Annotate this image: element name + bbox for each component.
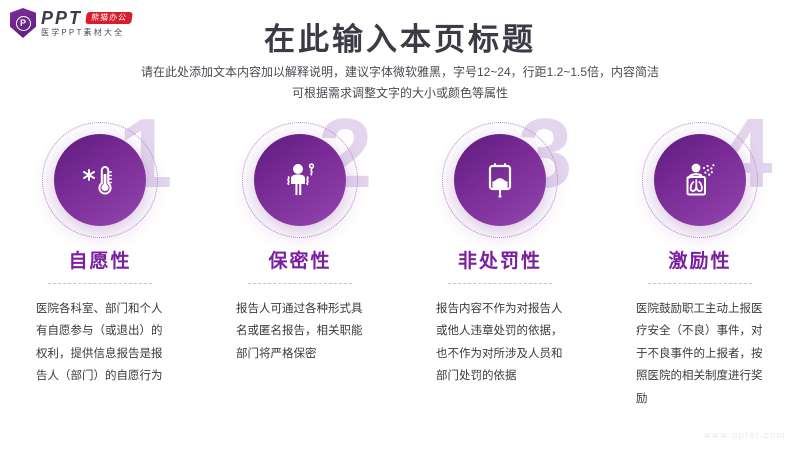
feature-heading-4: 激励性 [600, 246, 800, 273]
feature-heading-3: 非处罚性 [400, 246, 600, 273]
thermometer-snowflake-icon [54, 134, 146, 226]
feature-columns: 1 [0, 112, 800, 432]
feature-column-2: 2 [200, 112, 400, 432]
icon-badge-4: 4 [600, 112, 800, 242]
feature-body-2: 报告人可通过各种形式具名或匿名报告，相关职能部门将严格保密 [236, 298, 364, 365]
icon-badge-1: 1 [0, 112, 200, 242]
subtitle-line-1: 请在此处添加文本内容加以解释说明，建议字体微软雅黑，字号12~24，行距1.2~… [0, 62, 800, 83]
icon-badge-2: 2 [200, 112, 400, 242]
heading-divider-1 [48, 283, 152, 284]
feature-heading-2: 保密性 [200, 246, 400, 273]
heading-divider-3 [448, 283, 552, 284]
feature-column-1: 1 [0, 112, 200, 432]
slide-canvas: P PPT 熊猫办公 医学PPT素材大全 在此输入本页标题 请在此处添加文本内容… [0, 0, 800, 450]
feature-body-3: 报告内容不作为对报告人或他人违章处罚的依据，也不作为对所涉及人员和部门处罚的依据 [436, 298, 564, 388]
iv-drip-bag-icon [454, 134, 546, 226]
heading-divider-2 [248, 283, 352, 284]
feature-heading-1: 自愿性 [0, 246, 200, 273]
icon-badge-3: 3 [400, 112, 600, 242]
footer-watermark: www.ppter.com [704, 430, 786, 440]
feature-column-4: 4 [600, 112, 800, 432]
feature-column-3: 3 非处罚性 报告内容不作为对报告人或他人违章处罚的依据，也不作为对所涉及人员和… [400, 112, 600, 432]
feature-body-4: 医院鼓励职工主动上报医疗安全（不良）事件，对于不良事件的上报者，按照医院的相关制… [636, 298, 764, 410]
page-title: 在此输入本页标题 [0, 14, 800, 59]
heading-divider-4 [648, 283, 752, 284]
sick-person-icon [254, 134, 346, 226]
feature-body-1: 医院各科室、部门和个人有自愿参与（或退出）的权利，提供信息报告是报告人（部门）的… [36, 298, 164, 388]
lungs-respiratory-icon [654, 134, 746, 226]
